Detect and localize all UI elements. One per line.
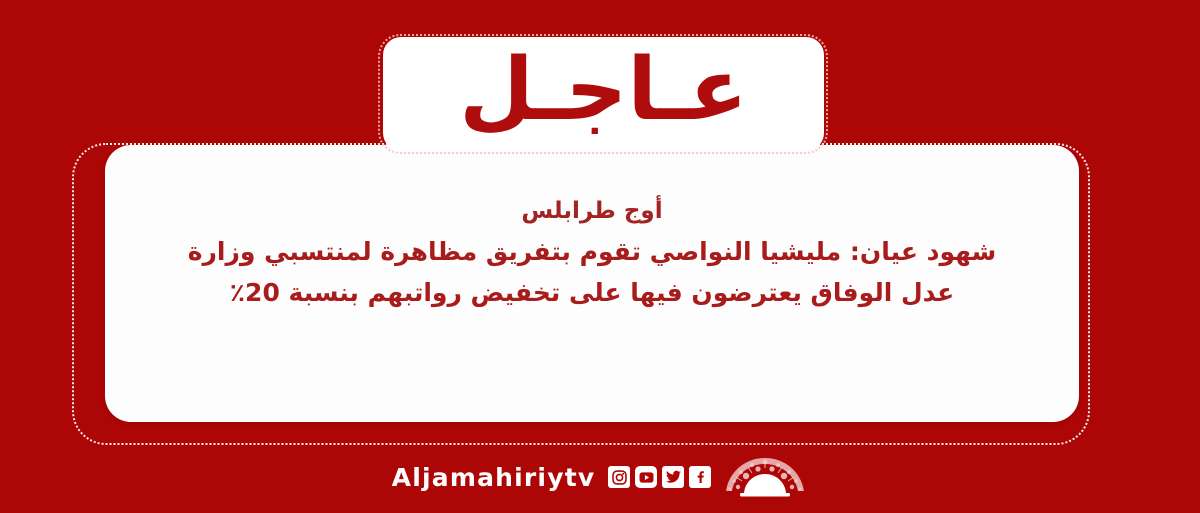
social-links [608, 466, 711, 488]
breaking-news-card: عـاجـل أوج طرابلس شهود عيان: مليشيا النو… [0, 0, 1200, 513]
youtube-icon[interactable] [635, 466, 657, 488]
headline-block: أوج طرابلس شهود عيان: مليشيا النواصي تقو… [105, 195, 1079, 313]
headline-line-1: شهود عيان: مليشيا النواصي تقوم بتفريق مظ… [105, 232, 1079, 273]
headline-line-2: عدل الوفاق يعترضون فيها على تخفيض رواتبه… [105, 273, 1079, 314]
footer-bar: Aljamahiriytv [0, 447, 1200, 507]
instagram-icon[interactable] [608, 466, 630, 488]
facebook-icon[interactable] [689, 466, 711, 488]
breaking-badge: عـاجـل [383, 37, 824, 151]
twitter-icon[interactable] [662, 466, 684, 488]
channel-brand-name: Aljamahiriytv [392, 463, 596, 492]
news-source: أوج طرابلس [105, 195, 1079, 228]
breaking-badge-label: عـاجـل [459, 47, 748, 133]
aljamahiriya-dome-logo [722, 455, 808, 499]
